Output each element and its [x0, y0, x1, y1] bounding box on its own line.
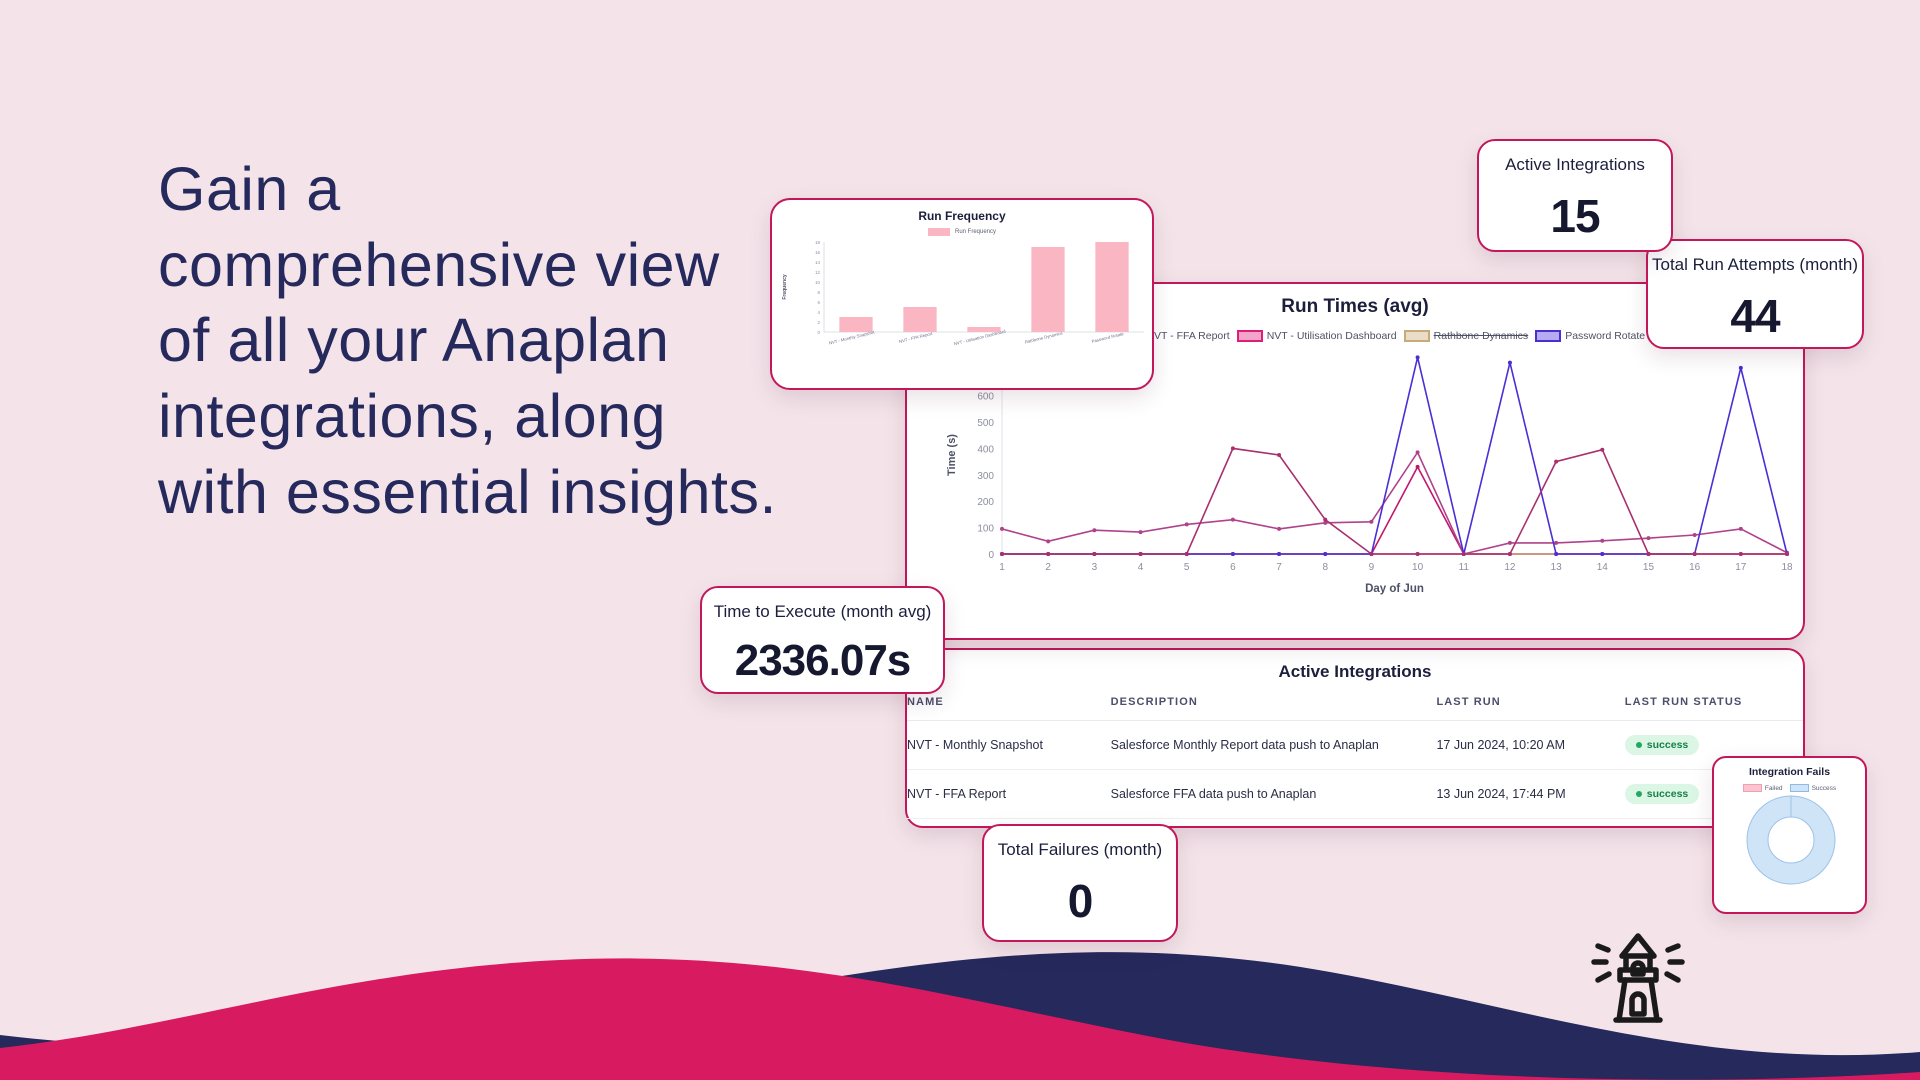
legend-swatch [1404, 330, 1430, 342]
promo-slide: Gain a comprehensive view of all your An… [0, 0, 1920, 1080]
x-tick-label: Rathbone Dynamics [1024, 330, 1063, 344]
x-tick-label: 2 [1045, 562, 1051, 573]
y-tick-label: 6 [818, 300, 821, 305]
series-point [1462, 552, 1466, 556]
series-point [1600, 552, 1604, 556]
series-point [1185, 522, 1189, 526]
legend-label: Failed [1765, 785, 1783, 792]
y-tick-label: 0 [988, 550, 994, 561]
x-axis-label: Day of Jun [1365, 583, 1424, 595]
active-integrations-title: Active Integrations [907, 662, 1803, 682]
cell-last-run: 17 Jun 2024, 10:20 AM [1436, 721, 1624, 770]
status-dot [1636, 742, 1642, 748]
kpi-value: 44 [1730, 289, 1779, 343]
x-tick-label: 11 [1459, 562, 1470, 573]
legend-item[interactable]: Password Rotate [1535, 330, 1645, 342]
bar [1031, 247, 1064, 332]
integration-fails-chart-card: Integration Fails FailedSuccess [1712, 756, 1867, 914]
x-tick-label: 8 [1322, 562, 1328, 573]
x-tick-label: 15 [1643, 562, 1655, 573]
series-point [1092, 552, 1096, 556]
series-line [1002, 448, 1787, 554]
x-tick-label: Password Rotate [1091, 331, 1125, 344]
series-point [1554, 541, 1558, 545]
status-dot [1636, 791, 1642, 797]
series-point [1323, 552, 1327, 556]
lighthouse-icon [1578, 922, 1698, 1030]
kpi-title: Total Failures (month) [998, 840, 1162, 860]
integration-fails-legend: FailedSuccess [1714, 784, 1865, 792]
y-tick-label: 100 [977, 524, 994, 535]
kpi-value: 0 [1068, 874, 1093, 928]
y-axis-label: Frequency [782, 274, 788, 300]
y-tick-label: 10 [815, 280, 820, 285]
series-point [1185, 552, 1189, 556]
series-point [1369, 520, 1373, 524]
x-tick-label: 4 [1138, 562, 1144, 573]
x-tick-label: 16 [1689, 562, 1701, 573]
x-tick-label: 5 [1184, 562, 1190, 573]
cell-name: NVT - FFA Report [907, 770, 1111, 819]
series-point [1231, 552, 1235, 556]
legend-item[interactable]: Success [1790, 784, 1837, 792]
series-point [1554, 552, 1558, 556]
bar [903, 307, 936, 332]
series-point [1416, 465, 1420, 469]
legend-label-run-frequency: Run Frequency [955, 229, 996, 235]
integration-fails-plot [1714, 792, 1869, 902]
y-tick-label: 8 [818, 290, 821, 295]
x-tick-label: 13 [1551, 562, 1563, 573]
cell-name: NVT - Monthly Snapshot [907, 721, 1111, 770]
kpi-value: 2336.07s [735, 636, 911, 686]
bar [839, 317, 872, 332]
donut-hole [1768, 817, 1814, 863]
series-point [1739, 366, 1743, 370]
table-body: NVT - Monthly SnapshotSalesforce Monthly… [907, 721, 1803, 819]
y-tick-label: 12 [815, 270, 820, 275]
x-tick-label: 6 [1230, 562, 1236, 573]
series-point [1046, 552, 1050, 556]
y-tick-label: 18 [815, 240, 820, 245]
x-tick-label: 18 [1781, 562, 1793, 573]
run-frequency-title: Run Frequency [772, 209, 1152, 223]
y-tick-label: 200 [977, 497, 994, 508]
series-point [1000, 552, 1004, 556]
y-tick-label: 4 [818, 310, 821, 315]
run-frequency-chart-card: Run Frequency Run Frequency 024681012141… [770, 198, 1154, 390]
series-line [1002, 452, 1787, 554]
page-title: Gain a comprehensive view of all your An… [158, 152, 778, 530]
series-point [1139, 552, 1143, 556]
integration-fails-title: Integration Fails [1714, 766, 1865, 778]
series-point [1739, 552, 1743, 556]
y-tick-label: 14 [815, 260, 820, 265]
kpi-total-run-attempts: Total Run Attempts (month) 44 [1646, 239, 1864, 349]
series-point [1046, 539, 1050, 543]
y-axis-label: Time (s) [946, 434, 958, 476]
series-point [1416, 450, 1420, 454]
series-point [1277, 527, 1281, 531]
x-tick-label: NVT - FFA Report [898, 331, 933, 344]
x-tick-label: 17 [1735, 562, 1747, 573]
legend-item[interactable]: Rathbone Dynamics [1404, 330, 1529, 342]
legend-swatch [1743, 784, 1762, 792]
kpi-value: 15 [1550, 189, 1599, 243]
series-point [1785, 552, 1789, 556]
cell-description: Salesforce Monthly Report data push to A… [1111, 721, 1437, 770]
status-badge: success [1625, 735, 1699, 755]
kpi-time-to-execute: Time to Execute (month avg) 2336.07s [700, 586, 945, 694]
legend-swatch-run-frequency [928, 228, 950, 236]
table-row[interactable]: NVT - FFA ReportSalesforce FFA data push… [907, 770, 1803, 819]
series-point [1739, 527, 1743, 531]
cell-description: Salesforce FFA data push to Anaplan [1111, 770, 1437, 819]
series-point [1693, 533, 1697, 537]
legend-label: Password Rotate [1565, 330, 1645, 342]
table-header-row: NAME DESCRIPTION LAST RUN LAST RUN STATU… [907, 696, 1803, 721]
legend-swatch [1535, 330, 1561, 342]
series-point [1277, 453, 1281, 457]
series-point [1139, 530, 1143, 534]
series-point [1416, 552, 1420, 556]
bar [1095, 242, 1128, 332]
active-integrations-table: NAME DESCRIPTION LAST RUN LAST RUN STATU… [907, 696, 1803, 819]
x-tick-label: 12 [1504, 562, 1516, 573]
column-header-last-run: LAST RUN [1436, 696, 1624, 721]
kpi-title: Total Run Attempts (month) [1652, 255, 1858, 275]
run-frequency-plot: 024681012141618FrequencyNVT - Monthly Sn… [772, 236, 1156, 376]
series-point [1646, 552, 1650, 556]
y-tick-label: 16 [815, 250, 820, 255]
series-point [1693, 552, 1697, 556]
x-tick-label: 10 [1412, 562, 1424, 573]
x-tick-label: 7 [1276, 562, 1282, 573]
kpi-total-failures: Total Failures (month) 0 [982, 824, 1178, 942]
y-tick-label: 2 [818, 320, 821, 325]
legend-label: Success [1812, 785, 1837, 792]
series-point [1508, 552, 1512, 556]
series-point [1646, 536, 1650, 540]
x-tick-label: 9 [1369, 562, 1375, 573]
legend-swatch [1237, 330, 1263, 342]
legend-item[interactable]: Failed [1743, 784, 1783, 792]
legend-label: NVT - Utilisation Dashboard [1267, 330, 1397, 342]
x-tick-label: 1 [999, 562, 1005, 573]
cell-last-run: 13 Jun 2024, 17:44 PM [1436, 770, 1624, 819]
legend-label: NVT - FFA Report [1146, 330, 1229, 342]
y-tick-label: 300 [977, 471, 994, 482]
legend-swatch [1790, 784, 1809, 792]
column-header-last-run-status: LAST RUN STATUS [1625, 696, 1803, 721]
y-tick-label: 500 [977, 418, 994, 429]
series-point [1554, 460, 1558, 464]
series-point [1508, 541, 1512, 545]
legend-item[interactable]: NVT - Utilisation Dashboard [1237, 330, 1397, 342]
active-integrations-table-card: Active Integrations NAME DESCRIPTION LAS… [905, 648, 1805, 828]
status-badge: success [1625, 784, 1699, 804]
table-row[interactable]: NVT - Monthly SnapshotSalesforce Monthly… [907, 721, 1803, 770]
run-frequency-legend: Run Frequency [772, 228, 1152, 236]
series-point [1323, 518, 1327, 522]
series-point [1600, 539, 1604, 543]
series-point [1416, 355, 1420, 359]
legend-label: Rathbone Dynamics [1434, 330, 1529, 342]
x-tick-label: 14 [1597, 562, 1609, 573]
series-point [1000, 527, 1004, 531]
series-line [1002, 467, 1787, 554]
y-tick-label: 0 [818, 330, 821, 335]
kpi-active-integrations: Active Integrations 15 [1477, 139, 1673, 252]
kpi-title: Active Integrations [1505, 155, 1645, 175]
y-tick-label: 400 [977, 444, 994, 455]
series-point [1508, 361, 1512, 365]
x-tick-label: 3 [1092, 562, 1098, 573]
series-point [1231, 446, 1235, 450]
kpi-title: Time to Execute (month avg) [714, 602, 932, 622]
column-header-name: NAME [907, 696, 1111, 721]
series-point [1277, 552, 1281, 556]
series-point [1600, 448, 1604, 452]
series-point [1092, 528, 1096, 532]
series-point [1369, 552, 1373, 556]
series-point [1231, 518, 1235, 522]
column-header-description: DESCRIPTION [1111, 696, 1437, 721]
y-tick-label: 600 [977, 392, 994, 403]
